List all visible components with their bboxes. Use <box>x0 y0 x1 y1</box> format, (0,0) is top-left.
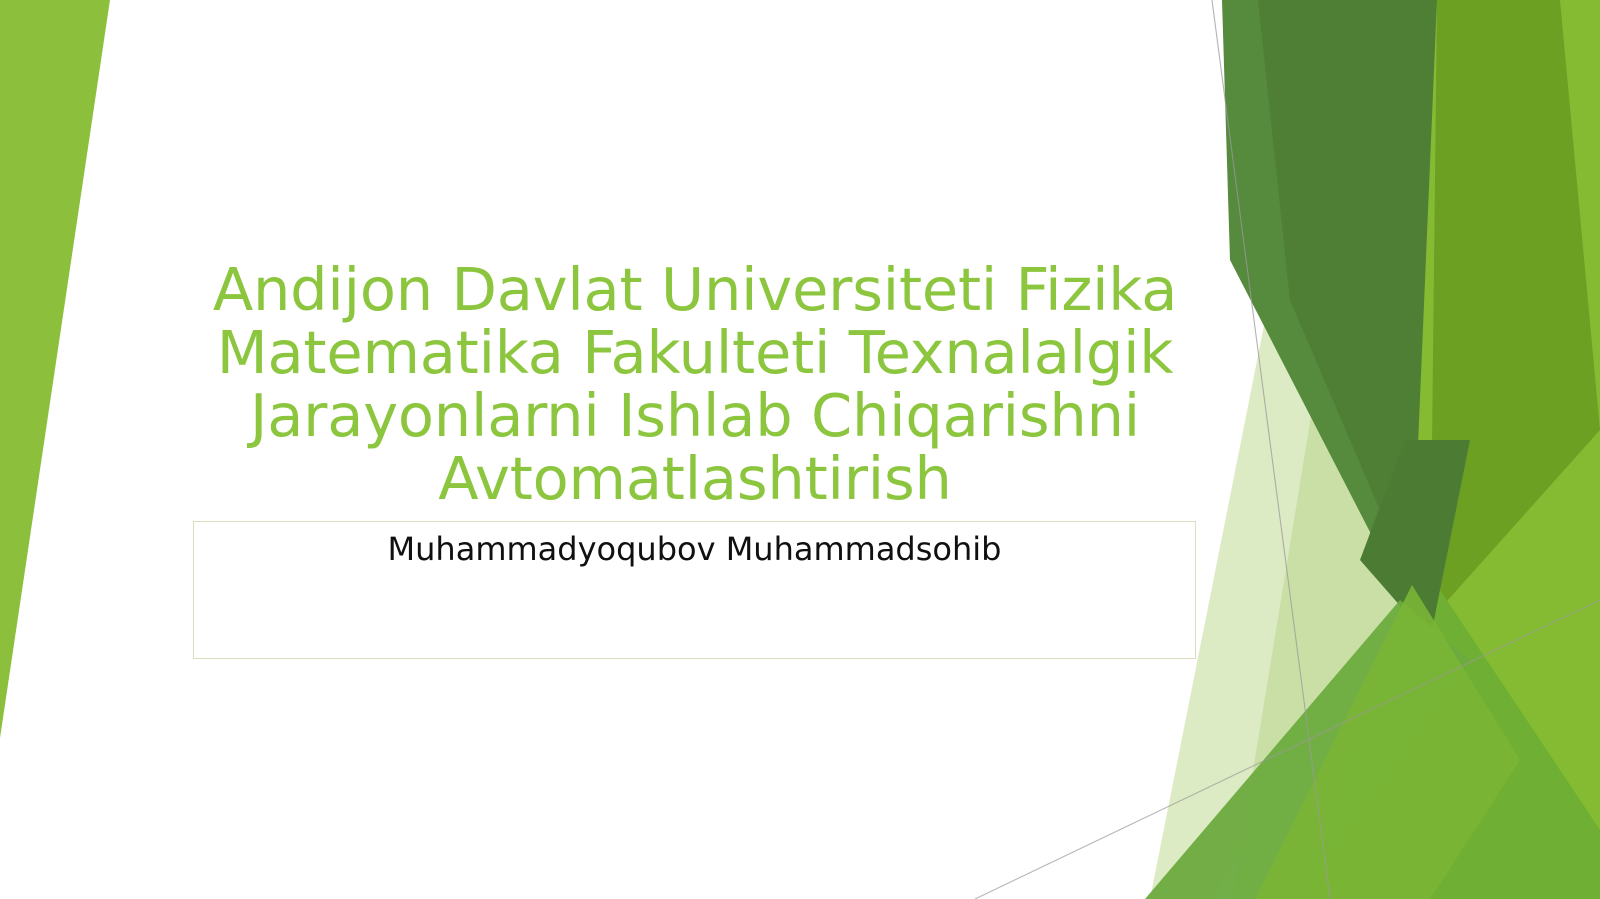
presentation-slide: Andijon Davlat Universiteti Fizika Matem… <box>0 0 1600 899</box>
deep-green-shape-top <box>1258 0 1437 585</box>
dark-green-shape-top <box>1222 0 1437 600</box>
mid-green-shape-lower <box>1300 560 1600 899</box>
slide-title: Andijon Davlat Universiteti Fizika Matem… <box>190 258 1200 511</box>
slide-subtitle-box[interactable]: Muhammadyoqubov Muhammadsohib <box>193 521 1196 659</box>
green-sweep-lower <box>1255 585 1520 899</box>
hairline-diagonal-upper <box>1212 0 1330 899</box>
bright-green-shape-right <box>1395 0 1600 899</box>
pale-green-shape-c <box>1350 0 1600 430</box>
deep-green-shape-overlap <box>1360 440 1470 640</box>
slide-subtitle: Muhammadyoqubov Muhammadsohib <box>194 529 1195 569</box>
mid-green-shape <box>1430 0 1600 620</box>
left-green-wedge-shape <box>0 0 110 738</box>
slide-title-block[interactable]: Andijon Davlat Universiteti Fizika Matem… <box>190 258 1200 511</box>
pale-green-shape-b <box>1232 300 1600 899</box>
